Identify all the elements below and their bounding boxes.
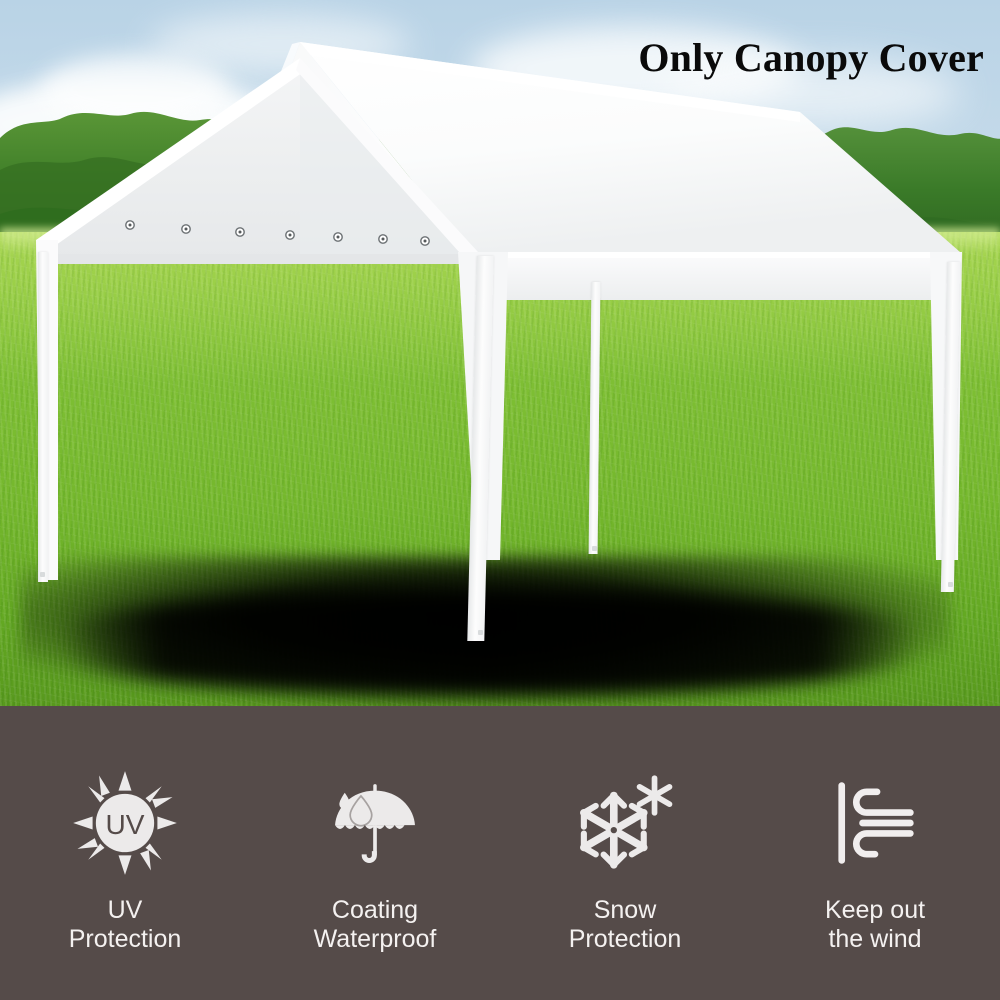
product-image: Only Canopy Cover — [0, 0, 1000, 1000]
uv-sun-icon: UV — [71, 764, 179, 882]
feature-keep-out-wind: Keep out the wind — [750, 706, 1000, 1000]
canopy-leg-front-left — [38, 252, 48, 582]
page-title: Only Canopy Cover — [638, 38, 984, 78]
feature-label: Keep out the wind — [825, 896, 925, 954]
leg-foot — [948, 582, 953, 587]
uv-icon-text: UV — [105, 809, 144, 840]
umbrella-rain-icon — [321, 764, 429, 882]
feature-label: Coating Waterproof — [314, 896, 437, 954]
feature-bar: UV UV Protection — [0, 706, 1000, 1000]
feature-label: Snow Protection — [569, 896, 682, 954]
grommet-row — [0, 0, 1000, 706]
snowflake-icon — [569, 764, 681, 882]
feature-coating-waterproof: Coating Waterproof — [250, 706, 500, 1000]
leg-foot — [592, 546, 597, 551]
leg-foot — [40, 572, 45, 577]
feature-label: UV Protection — [69, 896, 182, 954]
product-photo: Only Canopy Cover — [0, 0, 1000, 706]
wind-icon — [823, 764, 927, 882]
leg-foot — [478, 630, 483, 635]
feature-uv-protection: UV UV Protection — [0, 706, 250, 1000]
feature-snow-protection: Snow Protection — [500, 706, 750, 1000]
